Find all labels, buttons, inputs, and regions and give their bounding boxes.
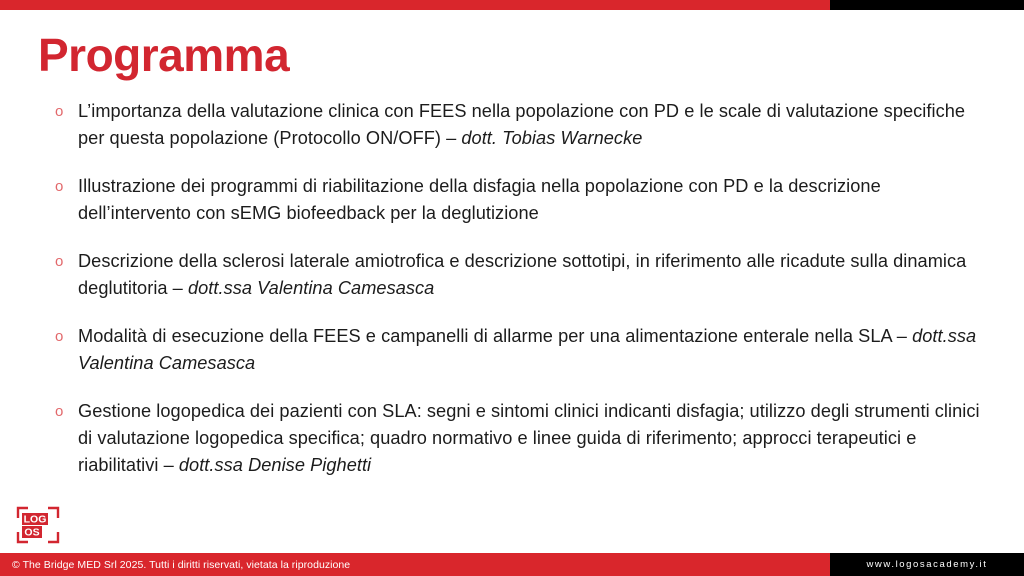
bullet-marker-icon: o — [52, 98, 78, 125]
top-accent-bar — [0, 0, 1024, 10]
list-item: o Illustrazione dei programmi di riabili… — [52, 173, 982, 227]
logo-line1: LOG — [24, 514, 47, 526]
bullet-marker-icon: o — [52, 398, 78, 425]
logo-line2: OS — [24, 527, 39, 539]
footer-website-segment: www.logosacademy.it — [830, 553, 1024, 576]
footer-copyright-text: © The Bridge MED Srl 2025. Tutti i dirit… — [0, 559, 350, 571]
slide-canvas: Programma o L’importanza della valutazio… — [0, 0, 1024, 576]
list-item: o Gestione logopedica dei pazienti con S… — [52, 398, 982, 479]
footer-bar: © The Bridge MED Srl 2025. Tutti i dirit… — [0, 553, 1024, 576]
list-item-text: Modalità di esecuzione della FEES e camp… — [78, 323, 982, 377]
list-item-text-plain: Illustrazione dei programmi di riabilita… — [78, 176, 881, 223]
bullet-marker-icon: o — [52, 323, 78, 350]
list-item-speaker: dott. Tobias Warnecke — [461, 128, 642, 148]
logos-logo: LOG OS — [16, 506, 62, 546]
top-accent-bar-black-segment — [830, 0, 1024, 10]
list-item: o Descrizione della sclerosi laterale am… — [52, 248, 982, 302]
list-item-speaker: dott.ssa Valentina Camesasca — [188, 278, 434, 298]
list-item: o Modalità di esecuzione della FEES e ca… — [52, 323, 982, 377]
logos-logo-icon: LOG OS — [16, 506, 62, 546]
list-item-text: Gestione logopedica dei pazienti con SLA… — [78, 398, 982, 479]
top-accent-bar-red-segment — [0, 0, 830, 10]
footer-website-text[interactable]: www.logosacademy.it — [866, 559, 987, 570]
list-item-text: Descrizione della sclerosi laterale amio… — [78, 248, 982, 302]
bullet-marker-icon: o — [52, 173, 78, 200]
list-item-speaker: dott.ssa Denise Pighetti — [179, 455, 371, 475]
bullet-marker-icon: o — [52, 248, 78, 275]
list-item-text: L’importanza della valutazione clinica c… — [78, 98, 982, 152]
footer-copyright-segment: © The Bridge MED Srl 2025. Tutti i dirit… — [0, 553, 830, 576]
list-item: o L’importanza della valutazione clinica… — [52, 98, 982, 152]
page-title: Programma — [38, 31, 289, 79]
list-item-text-plain: Modalità di esecuzione della FEES e camp… — [78, 326, 912, 346]
program-bullet-list: o L’importanza della valutazione clinica… — [52, 98, 982, 479]
list-item-text: Illustrazione dei programmi di riabilita… — [78, 173, 982, 227]
